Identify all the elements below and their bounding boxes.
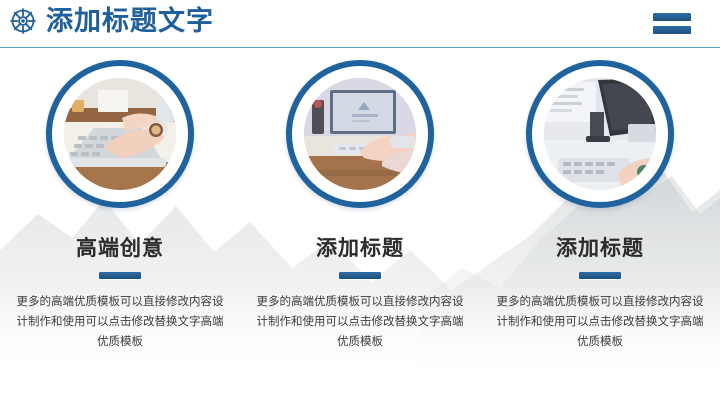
page-title: 添加标题文字 xyxy=(46,8,214,35)
column-body-3: 更多的高端优质模板可以直接修改内容设计制作和使用可以点击修改替换文字高端优质模板 xyxy=(496,292,704,352)
laptop-typing-photo-icon xyxy=(64,78,176,190)
content-column-1: 高端创意 更多的高端优质模板可以直接修改内容设计制作和使用可以点击修改替换文字高… xyxy=(0,60,240,352)
photo-medallion-2[interactable] xyxy=(286,60,434,208)
column-body-1: 更多的高端优质模板可以直接修改内容设计制作和使用可以点击修改替换文字高端优质模板 xyxy=(16,292,224,352)
header-divider xyxy=(0,47,720,48)
header-title-group: 添加标题文字 xyxy=(8,6,214,36)
content-column-2: 添加标题 更多的高端优质模板可以直接修改内容设计制作和使用可以点击修改替换文字高… xyxy=(240,60,480,352)
menu-bar-top xyxy=(653,13,691,21)
content-columns: 高端创意 更多的高端优质模板可以直接修改内容设计制作和使用可以点击修改替换文字高… xyxy=(0,60,720,352)
menu-bar-bottom xyxy=(653,26,691,34)
column-heading-2: 添加标题 xyxy=(316,238,404,259)
column-heading-1: 高端创意 xyxy=(76,238,164,259)
photo-medallion-3[interactable] xyxy=(526,60,674,208)
workstation-keyboard-photo-icon xyxy=(544,78,656,190)
heading-underline-3 xyxy=(579,272,621,279)
slide-header: 添加标题文字 xyxy=(0,0,720,48)
heading-underline-2 xyxy=(339,272,381,279)
content-column-3: 添加标题 更多的高端优质模板可以直接修改内容设计制作和使用可以点击修改替换文字高… xyxy=(480,60,720,352)
slide-canvas: 添加标题文字 xyxy=(0,0,720,405)
column-heading-3: 添加标题 xyxy=(556,238,644,259)
hamburger-menu-icon[interactable] xyxy=(653,13,691,34)
ship-wheel-icon xyxy=(8,6,38,36)
heading-underline-1 xyxy=(99,272,141,279)
column-body-2: 更多的高端优质模板可以直接修改内容设计制作和使用可以点击修改替换文字高端优质模板 xyxy=(256,292,464,352)
desktop-monitor-typing-photo-icon xyxy=(304,78,416,190)
photo-medallion-1[interactable] xyxy=(46,60,194,208)
